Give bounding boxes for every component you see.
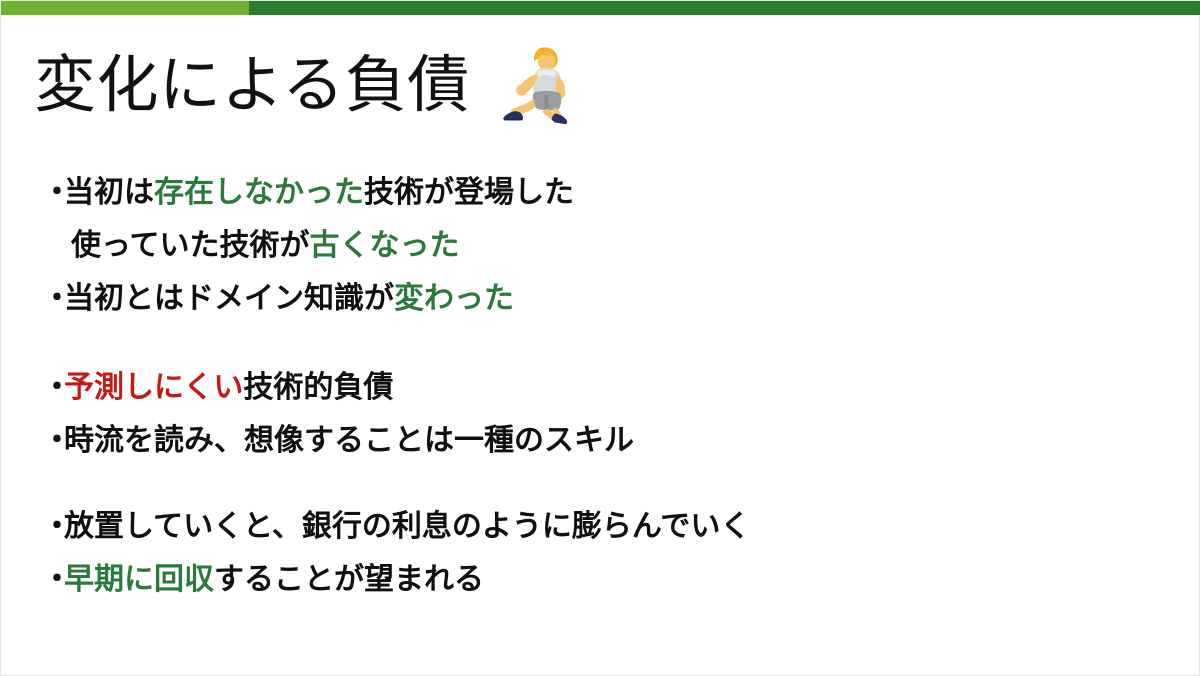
bullet-group-technology-change: ・ 当初は存在しなかった技術が登場した ・ 使っていた技術が古くなった ・ 当初… [42, 171, 1162, 321]
group-spacer [42, 321, 1162, 366]
text-run-highlight: 古くなった [310, 229, 460, 262]
text-run: 当初は [64, 176, 154, 209]
bullet-marker: ・ [42, 171, 64, 215]
bullet-marker: ・ [42, 505, 64, 549]
person-running-emoji [484, 33, 576, 125]
bullet-text: 予測しにくい技術的負債 [64, 366, 393, 410]
slide-title: 変化による負債 [34, 33, 576, 123]
text-run: 当初とはドメイン知識が [64, 282, 394, 315]
text-run: することが望まれる [214, 563, 484, 596]
bullet-group-interest-accrual: ・ 放置していくと、銀行の利息のように膨らんでいく ・ 早期に回収することが望ま… [42, 505, 1162, 602]
accent-bar-left-segment [1, 1, 249, 15]
bullet-text: 当初は存在しなかった技術が登場した [64, 171, 574, 215]
accent-bar [1, 1, 1200, 15]
bullet-line: ・ 時流を読み、想像することは一種のスキル [42, 419, 1162, 463]
bullet-group-unpredictable-debt: ・ 予測しにくい技術的負債 ・ 時流を読み、想像することは一種のスキル [42, 366, 1162, 463]
bullet-marker: ・ [42, 419, 64, 463]
bullet-marker: ・ [42, 277, 64, 321]
bullet-line: ・ 当初とはドメイン知識が変わった [42, 277, 1162, 321]
bullet-marker: ・ [42, 366, 64, 410]
bullet-text: 時流を読み、想像することは一種のスキル [64, 419, 634, 463]
bullet-line: ・ 当初は存在しなかった技術が登場した [42, 171, 1162, 215]
accent-bar-right-segment [249, 1, 1200, 15]
text-run: 使っていた技術が [71, 229, 310, 262]
group-spacer [42, 463, 1162, 505]
bullet-text: 使っていた技術が古くなった [64, 224, 460, 268]
text-run: 放置していくと、銀行の利息のように膨らんでいく [64, 510, 750, 543]
bullet-line: ・ 早期に回収することが望まれる [42, 558, 1162, 602]
bullet-text: 当初とはドメイン知識が変わった [64, 277, 514, 321]
slide: 変化による負債 [0, 0, 1200, 676]
text-run-highlight: 早期に回収 [64, 563, 214, 596]
text-run: 時流を読み、想像することは一種のスキル [64, 424, 634, 457]
text-run-highlight: 変わった [394, 282, 514, 315]
bullet-marker: ・ [42, 558, 64, 602]
bullet-line: ・ 予測しにくい技術的負債 [42, 366, 1162, 410]
bullet-line: ・ 放置していくと、銀行の利息のように膨らんでいく [42, 505, 1162, 549]
text-run-alert: 予測しにくい [64, 371, 243, 404]
bullet-text: 早期に回収することが望まれる [64, 558, 484, 602]
bullet-text: 放置していくと、銀行の利息のように膨らんでいく [64, 505, 750, 549]
text-run: 技術が登場した [364, 176, 574, 209]
bullet-line-continuation: ・ 使っていた技術が古くなった [42, 224, 1162, 268]
text-run-highlight: 存在しなかった [154, 176, 364, 209]
text-run: 技術的負債 [243, 371, 393, 404]
bullet-body: ・ 当初は存在しなかった技術が登場した ・ 使っていた技術が古くなった ・ 当初… [42, 171, 1162, 602]
slide-title-text: 変化による負債 [34, 49, 470, 123]
